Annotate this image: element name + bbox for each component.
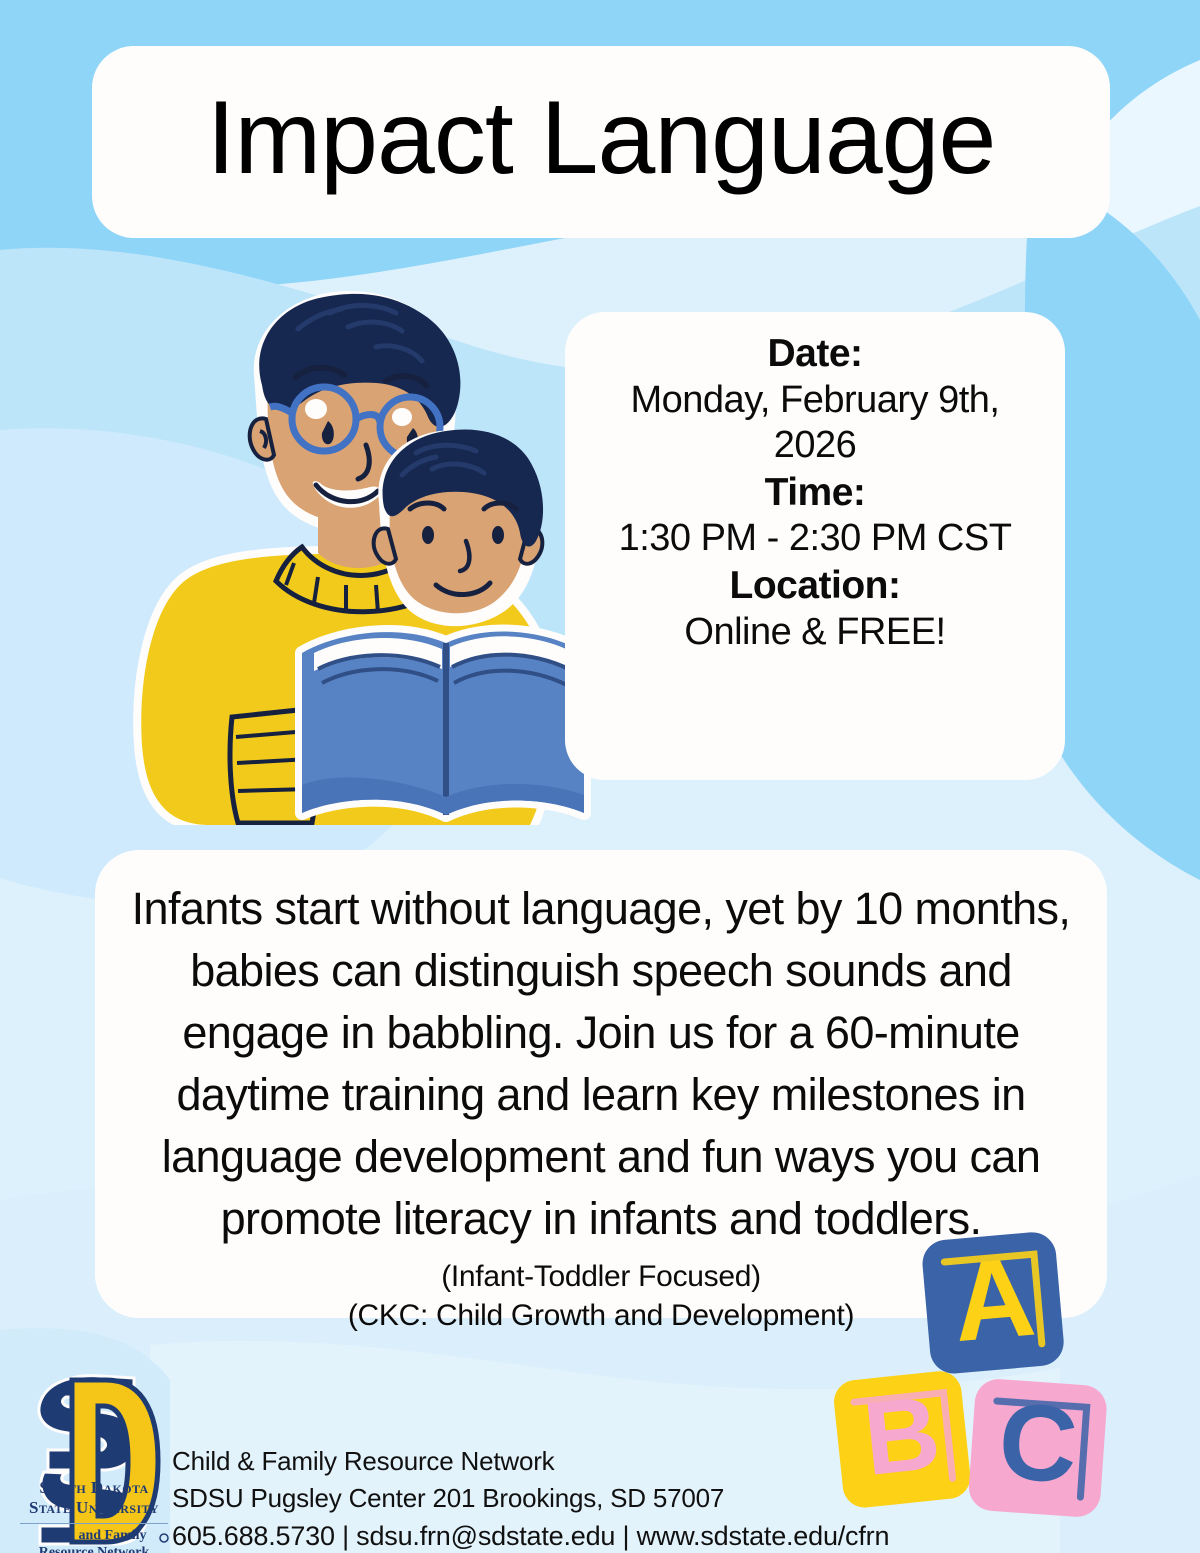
logo-unit-line1: Child and Family xyxy=(14,1528,174,1545)
footer-contact: Child & Family Resource Network SDSU Pug… xyxy=(172,1443,992,1553)
date-label: Date: xyxy=(587,330,1043,378)
logo-unit-line2: Resource Network xyxy=(14,1545,174,1553)
page-title: Impact Language xyxy=(207,86,996,190)
description-paragraph: Infants start without language, yet by 1… xyxy=(121,878,1081,1251)
date-value-line2: 2026 xyxy=(587,423,1043,469)
sdsu-wordmark: South Dakota State University Child and … xyxy=(14,1478,174,1553)
title-card: Impact Language xyxy=(92,46,1110,238)
date-value-line1: Monday, February 9th, xyxy=(587,378,1043,424)
time-label: Time: xyxy=(587,469,1043,517)
flyer-poster: Impact Language xyxy=(0,0,1200,1553)
logo-divider xyxy=(20,1523,168,1524)
block-letter-a: A xyxy=(948,1234,1039,1366)
sdsu-wordmark-line2: State University xyxy=(14,1498,174,1518)
block-letter-c: C xyxy=(995,1379,1081,1505)
event-details-card: Date: Monday, February 9th, 2026 Time: 1… xyxy=(565,312,1065,780)
footer-org: Child & Family Resource Network xyxy=(172,1443,992,1480)
sdsu-wordmark-line1: South Dakota xyxy=(14,1478,174,1498)
reading-illustration xyxy=(80,285,600,825)
time-value: 1:30 PM - 2:30 PM CST xyxy=(587,516,1043,562)
location-value: Online & FREE! xyxy=(587,610,1043,656)
footer-contact-line: 605.688.5730 | sdsu.frn@sdstate.edu | ww… xyxy=(172,1517,992,1553)
location-label: Location: xyxy=(587,562,1043,610)
footer-address: SDSU Pugsley Center 201 Brookings, SD 57… xyxy=(172,1480,992,1517)
